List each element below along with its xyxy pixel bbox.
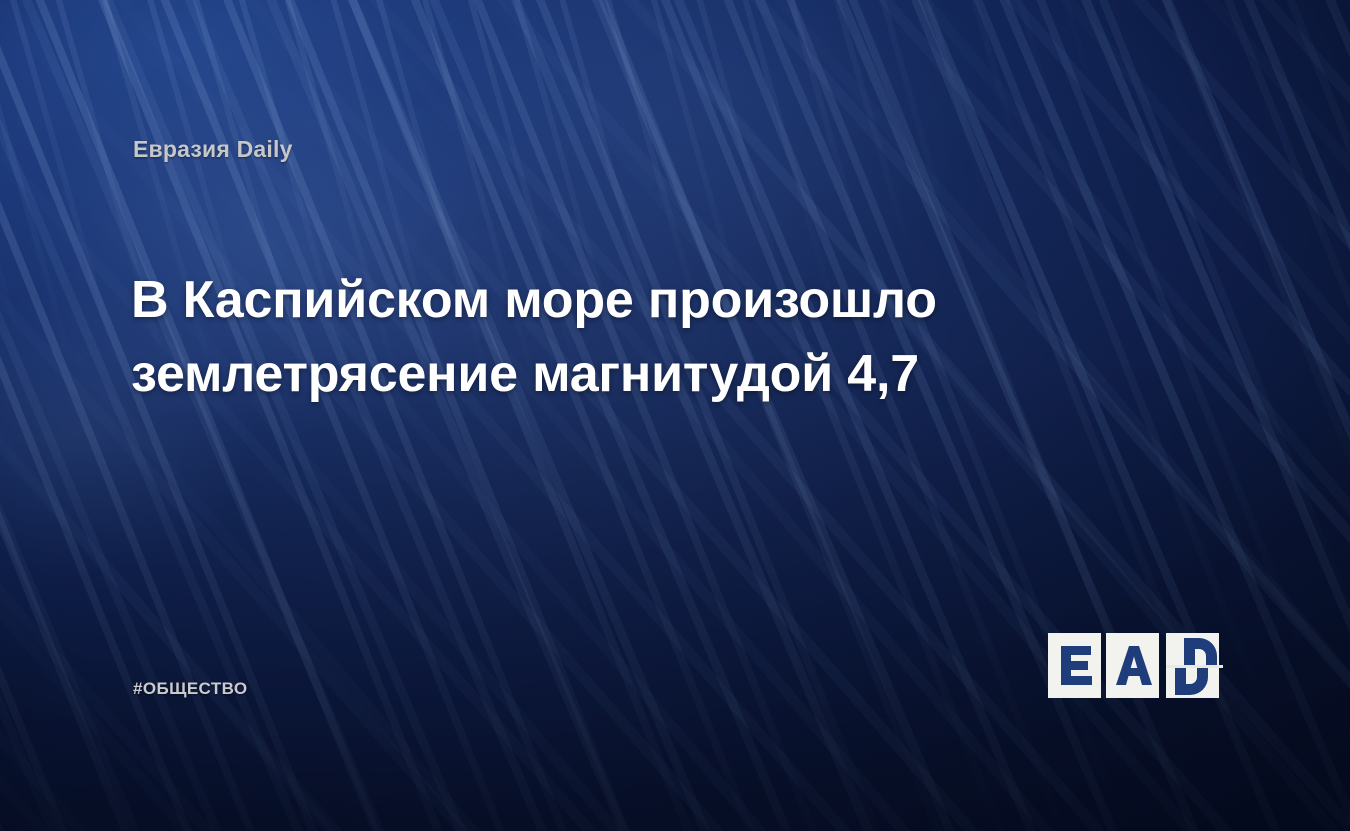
logo-tile-e <box>1048 633 1101 698</box>
rubric-tag[interactable]: #ОБЩЕСТВО <box>133 679 247 699</box>
logo-tile-a <box>1106 633 1159 698</box>
headline: В Каспийском море произошло землетрясени… <box>131 263 1051 411</box>
card-content: Евразия Daily В Каспийском море произошл… <box>0 0 1350 831</box>
logo-tile-d <box>1166 633 1223 698</box>
eadaily-logo[interactable] <box>1047 618 1223 708</box>
news-card: Евразия Daily В Каспийском море произошл… <box>0 0 1350 831</box>
site-name: Евразия Daily <box>133 136 293 163</box>
